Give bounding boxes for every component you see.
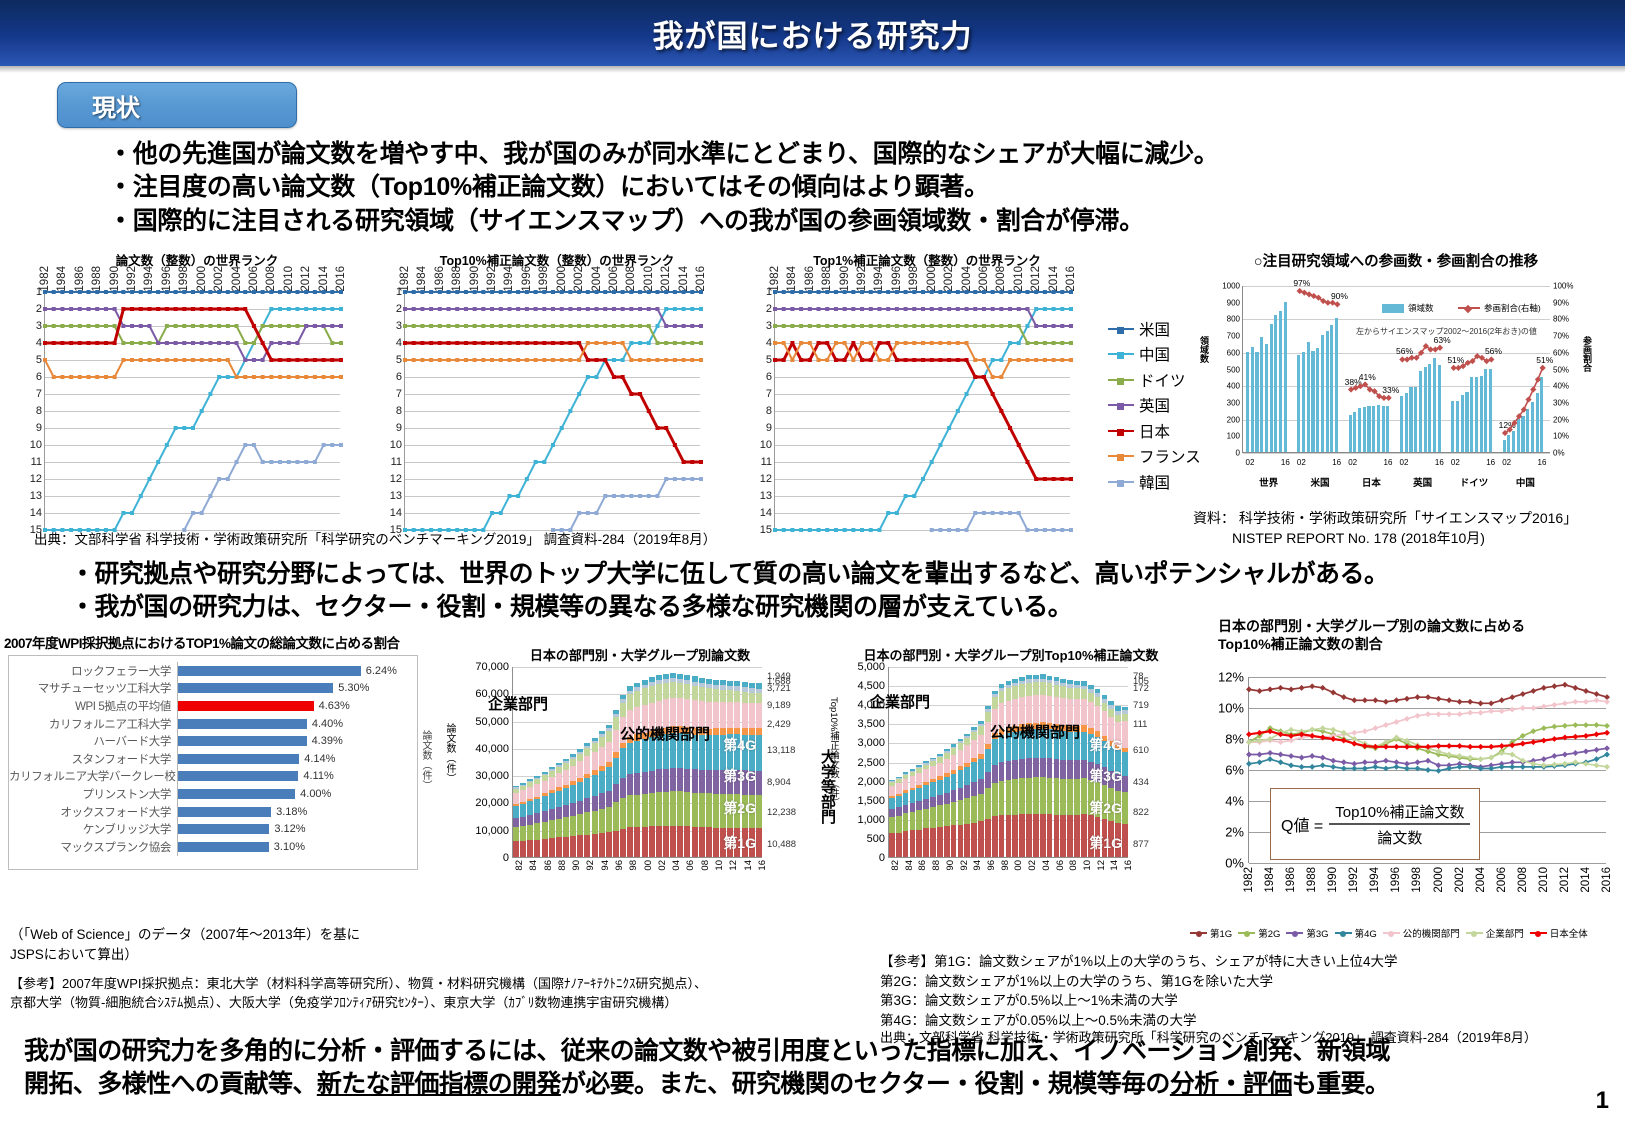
x-axis-tick: 2000 (556, 266, 568, 292)
wpi-bar-row: WPI 5拠点の平均値4.63% (9, 697, 417, 715)
y-axis-tick: 13 (760, 490, 772, 502)
wpi-value-label: 4.63% (319, 700, 350, 712)
stack-segment (1019, 778, 1025, 814)
gridline (1243, 453, 1550, 454)
stack-segment (577, 835, 583, 857)
q-legend-item-第3G: 第3G (1286, 926, 1328, 940)
y-axis-tick: 4 (396, 337, 402, 349)
stack-segment (627, 795, 633, 827)
y-axis-tick: 3 (766, 320, 772, 332)
stack-segment (930, 828, 936, 857)
wpi-bar (178, 736, 307, 746)
y-axis-tick: 14 (760, 507, 772, 519)
stack-segment (1040, 695, 1046, 723)
y-axis-tick: 100 (1227, 432, 1240, 441)
stack-segment (958, 788, 964, 800)
stack-segment (606, 807, 612, 833)
stacked-column (684, 675, 690, 857)
x-axis-tick: 98 (628, 860, 639, 871)
x-axis-tick: 04 (1041, 860, 1052, 871)
wpi-bar-row: ケンブリッジ大学3.12% (9, 820, 417, 838)
x-axis-tick: 2000 (926, 266, 938, 292)
x-axis-tick: 2006 (978, 266, 990, 292)
legend-label: 第3G (1306, 926, 1328, 940)
x-axis-tick: 02 (1297, 458, 1306, 467)
y-axis-tick: 2 (766, 303, 772, 315)
y-axis-tick: 15 (760, 524, 772, 536)
stack-segment (958, 743, 964, 750)
legend-item-韓国: 韓国 (1108, 469, 1201, 495)
stack-segment (677, 791, 683, 826)
x-axis-tick: 1982 (1243, 867, 1255, 893)
stack-segment (1054, 778, 1060, 814)
stack-segment (713, 828, 719, 857)
x-axis-tick: 2002 (573, 266, 585, 292)
wpi-value-label: 4.39% (312, 735, 343, 747)
chart-title-q-line1: 日本の部門別・大学グループ別の論文数に占める (1218, 618, 1625, 636)
wpi-bar-track: 6.24% (177, 662, 417, 680)
q-legend-item-第4G: 第4G (1335, 926, 1377, 940)
y-axis-tick: 5 (36, 354, 42, 366)
stacked-column (756, 683, 762, 857)
stack-group-label-第4G: 第4G (723, 735, 756, 755)
stack-segment (1006, 815, 1012, 857)
wpi-category-label: ロックフェラー大学 (9, 663, 177, 679)
y-axis-tick: 50,000 (475, 716, 509, 728)
stack-segment (577, 801, 583, 814)
stack-segment (749, 728, 755, 735)
stack-segment (1054, 697, 1060, 724)
stack-segment (577, 782, 583, 801)
stack-segment (930, 782, 936, 796)
x-axis-tick: 04 (671, 860, 682, 871)
x-axis-tick: 2000 (196, 266, 208, 292)
stack-segment (1040, 682, 1046, 695)
stack-segment (613, 802, 619, 830)
stack-segment (599, 809, 605, 834)
x-axis-tick: 2004 (961, 266, 973, 292)
x-axis-tick: 2012 (300, 266, 312, 292)
y-axis-tick: 4 (766, 337, 772, 349)
wpi-value-label: 4.11% (303, 770, 333, 782)
stacked-column (1026, 675, 1032, 857)
stack-segment (570, 785, 576, 803)
legend-item-フランス: フランス (1108, 444, 1201, 470)
q-formula-numerator: Top10%補正論文数 (1329, 801, 1470, 825)
stacked-column (889, 780, 895, 857)
wpi-bar (178, 719, 307, 729)
stack-segment (1026, 814, 1032, 857)
stack-segment (584, 798, 590, 812)
page-title: 我が国における研究力 (653, 11, 973, 56)
x-axis-tick: 1994 (503, 266, 515, 292)
stack-segment (563, 817, 569, 836)
stack-segment (889, 798, 895, 809)
chart-q-value: 0%2%4%6%8%10%12%198219841986198819901992… (1186, 655, 1616, 905)
stack-segment (985, 749, 991, 772)
wpi-bar (178, 701, 314, 711)
stacked-column (649, 677, 655, 857)
stacked-column (951, 744, 957, 857)
stack-segment (549, 820, 555, 838)
stack-segment (903, 793, 909, 805)
x-axis-tick: 88 (557, 860, 568, 871)
wpi-value-label: 4.14% (304, 753, 335, 765)
y-axis-tick: 9 (396, 422, 402, 434)
stack-segment (930, 797, 936, 807)
x-axis-tick: 1990 (1327, 867, 1339, 893)
group-label: ドイツ (1460, 475, 1489, 489)
stacked-column (570, 754, 576, 857)
x-axis-tick: 16 (1486, 458, 1495, 467)
stack-segment (910, 790, 916, 803)
wpi-bar-row: マサチューセッツ工科大学5.30% (9, 680, 417, 698)
stack-end-value: 10,488 (767, 839, 796, 850)
stack-segment (923, 828, 929, 857)
x-axis-tick: 1996 (891, 266, 903, 292)
stack-segment (1033, 758, 1039, 778)
stack-segment (527, 801, 533, 814)
stacked-column (563, 759, 569, 857)
stacked-column (556, 763, 562, 857)
y-axis-tick: 8% (1225, 732, 1244, 747)
x-axis-tick: 12 (1096, 860, 1107, 871)
legend-item-中国: 中国 (1108, 342, 1201, 368)
stacked-column (584, 743, 590, 857)
stacked-column (944, 749, 950, 857)
stacked-column (706, 679, 712, 857)
stack-segment (656, 769, 662, 792)
stack-segment (749, 703, 755, 728)
stack-segment (992, 739, 998, 765)
stack-segment (896, 833, 902, 857)
y-axis-tick: 12% (1218, 670, 1244, 685)
y2-axis-tick: 0% (1553, 449, 1565, 458)
stack-segment (1074, 779, 1080, 815)
group-definition-note: 【参考】第1G：論文数シェアが1%以上の大学のうち、シェアが特に大きい上位4大学… (880, 952, 1620, 1030)
stack-segment (1067, 779, 1073, 815)
chart-title-q-line2: Top10%補正論文数の割合 (1218, 636, 1625, 654)
stacked-column (592, 738, 598, 857)
stack-segment (999, 691, 1005, 703)
x-axis-tick: 2008 (625, 266, 637, 292)
y2-axis-tick: 100% (1553, 282, 1573, 291)
stack-segment (592, 752, 598, 770)
stack-segment (556, 791, 562, 807)
x-axis-tick: 1988 (1306, 867, 1318, 893)
stack-segment (756, 795, 762, 828)
x-axis-tick: 06 (685, 860, 696, 871)
stack-segment (684, 792, 690, 826)
x-axis-tick: 1992 (126, 266, 138, 292)
stack-segment (577, 814, 583, 835)
x-axis-tick: 1988 (821, 266, 833, 292)
x-axis-tick: 2006 (1496, 867, 1508, 893)
stack-segment (592, 811, 598, 834)
y-axis-tick: 7 (396, 388, 402, 400)
stack-segment (1081, 732, 1087, 760)
wpi-y-axis-label: 論文数（件） (418, 730, 433, 790)
y-axis-tick: 1000 (1222, 282, 1240, 291)
x-axis-tick: 2012 (1030, 266, 1042, 292)
stacked-column (1019, 677, 1025, 857)
stack-segment (699, 793, 705, 827)
stacked-column (1040, 674, 1046, 857)
stack-segment (964, 745, 970, 762)
wpi-bar-track: 3.10% (177, 838, 417, 856)
stack-segment (513, 827, 519, 841)
stack-segment (620, 829, 626, 857)
stack-end-value: 434 (1133, 777, 1149, 788)
source-note-top: 出典：文部科学省 科学技術・学術政策研究所「科学研究のベンチマーキング2019」… (34, 528, 716, 548)
stack-segment (923, 785, 929, 799)
stack-segment (692, 827, 698, 857)
stack-segment (951, 755, 957, 770)
legend-line (1108, 455, 1134, 457)
stack-segment (916, 788, 922, 801)
x-axis-tick: 2004 (591, 266, 603, 292)
stack-segment (958, 750, 964, 766)
stack-segment (549, 793, 555, 809)
x-axis-tick: 12 (728, 860, 739, 871)
science-map-note: 左からサイエンスマップ2002～2016(2年おき)の値 (1356, 326, 1537, 337)
wpi-value-label: 4.00% (300, 788, 331, 800)
q-formula-denominator: 論文数 (1329, 825, 1470, 848)
stack-segment (713, 728, 719, 735)
legend-line (1383, 932, 1400, 934)
y-axis-tick: 7 (766, 388, 772, 400)
wpi-category-label: ケンブリッジ大学 (9, 821, 177, 837)
wpi-bar-row: プリンストン大学4.00% (9, 785, 417, 803)
stack-segment (620, 778, 626, 798)
stack-segment (1095, 697, 1101, 706)
stack-segment (1054, 685, 1060, 697)
wpi-value-label: 3.18% (276, 806, 307, 818)
stacked-column (999, 684, 1005, 857)
x-axis-tick: 2006 (608, 266, 620, 292)
x-axis-tick: 2014 (678, 266, 690, 292)
q-legend-item-日本全体: 日本全体 (1530, 926, 1588, 940)
y-axis-tick: 6 (36, 371, 42, 383)
stack-segment (756, 728, 762, 735)
stack-segment (978, 726, 984, 734)
stack-segment (944, 826, 950, 857)
stack-segment (520, 841, 526, 857)
stack-segment (1026, 778, 1032, 814)
stack-segment (1012, 760, 1018, 779)
stack-segment (542, 839, 548, 857)
conclusion-line-2: 開拓、多様性への貢献等、新たな評価指標の開発が必要。また、研究機関のセクター・役… (24, 1068, 1584, 1101)
stacked-column (699, 678, 705, 857)
stack-segment (1088, 702, 1094, 728)
stack-segment (1040, 777, 1046, 814)
x-axis-tick: 1988 (451, 266, 463, 292)
x-axis-tick: 2002 (213, 266, 225, 292)
legend-label: 公的機関部門 (1403, 926, 1460, 940)
legend-line (1190, 932, 1207, 934)
stack-segment (964, 798, 970, 824)
wpi-category-label: プリンストン大学 (9, 786, 177, 802)
stack-segment (706, 688, 712, 701)
wpi-bar-row: オックスフォード大学3.18% (9, 803, 417, 821)
y-axis-tick: 3,000 (857, 737, 885, 749)
y-axis-tick: 700 (1227, 332, 1240, 341)
chart-science-map: 00%10010%20020%30030%40040%50050%60060%7… (1196, 278, 1594, 493)
stack-segment (599, 771, 605, 794)
stack-segment (1074, 760, 1080, 779)
stack-segment (520, 826, 526, 841)
stack-end-value: 822 (1133, 807, 1149, 818)
stack-segment (706, 770, 712, 793)
x-axis-tick: 84 (528, 860, 539, 871)
y-axis-tick: 7 (36, 388, 42, 400)
x-axis-tick: 2016 (1601, 867, 1613, 893)
x-axis-tick: 1982 (769, 266, 781, 292)
x-axis-tick: 82 (890, 860, 901, 871)
stack-segment (684, 684, 690, 699)
stack-segment (513, 841, 519, 857)
y-axis-tick: 0 (503, 852, 509, 864)
stack-segment (964, 785, 970, 798)
stack-group-label-第1G: 第1G (723, 833, 756, 853)
stack-end-value: 111 (1133, 719, 1147, 730)
stack-segment (1047, 696, 1053, 723)
stack-segment (642, 739, 648, 772)
legend-label: 英国 (1139, 394, 1170, 416)
stack-segment (520, 804, 526, 817)
x-axis-tick: 2006 (248, 266, 260, 292)
x-axis-tick: 94 (972, 860, 983, 871)
stack-segment (1012, 815, 1018, 857)
stack-segment (577, 761, 583, 778)
stack-segment (978, 735, 984, 754)
x-axis-tick: 2016 (335, 266, 347, 292)
stack-segment (742, 692, 748, 703)
chart-rank-top1: Top1%補正論文数（整数）の世界ランク 1234567891011121314… (752, 250, 1102, 269)
rank-plot-area: 1234567891011121314151982198419861988199… (404, 292, 700, 530)
x-axis-tick: 2008 (995, 266, 1007, 292)
stack-segment (606, 731, 612, 742)
legend-label: 第2G (1258, 926, 1280, 940)
stack-segment (1060, 779, 1066, 815)
stack-segment (734, 728, 740, 735)
x-axis-tick: 96 (986, 860, 997, 871)
x-axis-tick: 2012 (660, 266, 672, 292)
x-axis-tick: 94 (600, 860, 611, 871)
stack-segment (727, 728, 733, 735)
stack-segment (1102, 711, 1108, 736)
stack-segment (1074, 688, 1080, 698)
x-axis-tick: 1992 (1348, 867, 1360, 893)
stacked-column (1012, 679, 1018, 857)
stacked-column (916, 765, 922, 857)
x-axis-tick: 92 (585, 860, 596, 871)
stack-segment (1006, 688, 1012, 701)
wpi-category-label: WPI 5拠点の平均値 (9, 698, 177, 714)
legend-label: 韓国 (1139, 471, 1170, 493)
stack-segment (896, 783, 902, 794)
wpi-value-label: 3.12% (274, 823, 305, 835)
x-axis-tick: 2010 (283, 266, 295, 292)
legend-item-日本: 日本 (1108, 418, 1201, 444)
stack-segment (958, 770, 964, 788)
status-badge-label: 現状 (92, 88, 140, 123)
stack-segment (978, 794, 984, 822)
wpi-bar-row: ハーバード大学4.39% (9, 732, 417, 750)
stacked-column (1033, 675, 1039, 857)
wpi-value-label: 4.40% (312, 718, 343, 730)
stack-group-label-第3G: 第3G (723, 766, 756, 786)
stack-segment (944, 777, 950, 793)
stack-segment (563, 770, 569, 785)
x-axis-tick: 1998 (1411, 867, 1423, 893)
stack-segment (527, 815, 533, 825)
legend-label: 中国 (1139, 343, 1170, 365)
wpi-bar (178, 666, 361, 676)
status-badge: 現状 (57, 82, 297, 128)
stack-segment (896, 816, 902, 833)
stack-segment (663, 792, 669, 826)
chart-top10-by-sector: 日本の部門別・大学グループ別Top10%補正論文数 05001,0001,500… (828, 645, 1178, 900)
stack-segment (1122, 824, 1128, 858)
legend-label: 米国 (1139, 318, 1170, 340)
stack-segment (756, 735, 762, 771)
y-axis-tick: 600 (1227, 348, 1240, 357)
x-axis-tick: 00 (1013, 860, 1024, 871)
stack-segment (706, 793, 712, 827)
stack-segment (1108, 709, 1114, 717)
y-axis-tick: 4 (36, 337, 42, 349)
q-formula-lhs: Q値 = (1281, 812, 1323, 836)
stacked-column (542, 772, 548, 857)
stack-segment (534, 813, 540, 823)
y-axis-tick: 2 (36, 303, 42, 315)
stacked-column (964, 734, 970, 857)
stack-segment (613, 831, 619, 857)
stack-segment (592, 743, 598, 752)
x-axis-tick: 84 (904, 860, 915, 871)
stack-segment (599, 793, 605, 809)
x-axis-tick: 82 (514, 860, 525, 871)
y-axis-tick: 40,000 (475, 743, 509, 755)
stack-segment (910, 776, 916, 787)
y2-axis-tick: 30% (1553, 398, 1569, 407)
stacked-column (577, 749, 583, 857)
stack-segment (734, 702, 740, 727)
stack-segment (916, 773, 922, 785)
x-axis-tick: 86 (917, 860, 928, 871)
stacked-column (549, 767, 555, 857)
stack-segment (742, 703, 748, 728)
stack-segment (1026, 758, 1032, 777)
stacked-column (937, 754, 943, 857)
wpi-value-label: 5.30% (338, 682, 369, 694)
y-axis-tick: 400 (1227, 382, 1240, 391)
stack-segment (1054, 759, 1060, 778)
chart-title: 日本の部門別・大学グループ別Top10%補正論文数 (844, 645, 1178, 664)
y2-axis-tick: 70% (1553, 332, 1569, 341)
stack-segment (1074, 815, 1080, 857)
stack-segment (999, 762, 1005, 781)
y-axis-tick: 5 (766, 354, 772, 366)
stack-segment (1047, 778, 1053, 814)
x-axis-tick: 1992 (486, 266, 498, 292)
legend-swatch-areas (1382, 304, 1404, 313)
stack-segment (684, 769, 690, 792)
wpi-category-label: ハーバード大学 (9, 733, 177, 749)
wpi-category-label: カリフォルニア工科大学 (9, 716, 177, 732)
wpi-bar-track: 4.14% (177, 750, 417, 768)
